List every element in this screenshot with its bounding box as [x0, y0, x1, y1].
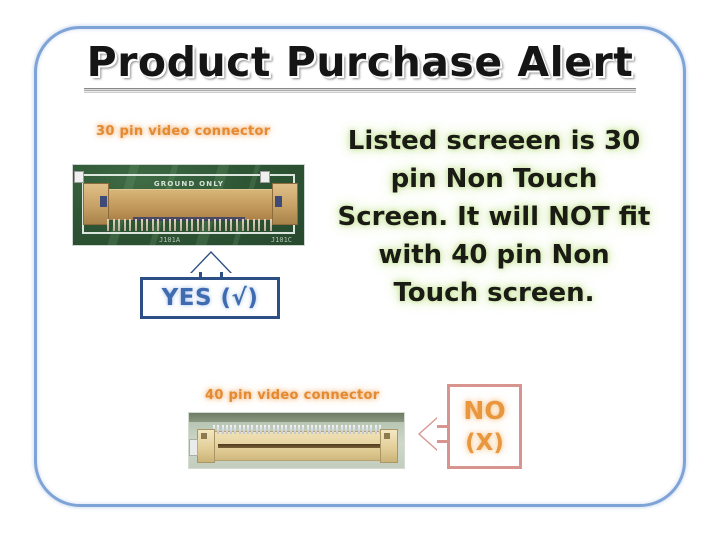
connector-keying-right: [275, 196, 282, 207]
connector-keying-left: [100, 196, 107, 207]
silkscreen-ref-left: J101A: [159, 236, 180, 244]
connector-end-left-40: [197, 429, 215, 463]
page-title-container: Product Purchase Alert: [34, 38, 686, 88]
silkscreen-ground-only-label: GROUND ONLY: [89, 180, 289, 188]
image-30-pin-connector: GROUND ONLY J101A J101C: [72, 164, 305, 246]
image-40-pin-connector: [188, 412, 405, 469]
connector-tab-right: [260, 171, 270, 183]
connector-pin-row-30: [107, 219, 272, 231]
connector-end-right-40: [380, 429, 398, 463]
page-title: Product Purchase Alert: [81, 38, 640, 88]
title-underline: [84, 88, 636, 93]
connector-body-30-pin: GROUND ONLY: [89, 189, 289, 220]
connector-tab-left: [74, 171, 84, 183]
yes-callout-box: YES (√): [140, 277, 280, 319]
connector-side-tab-40: [189, 439, 198, 456]
connector-slot-40: [218, 444, 381, 448]
alert-message: Listed screeen is 30 pin Non Touch Scree…: [336, 122, 652, 312]
connector-pin-row-40: [213, 425, 381, 434]
caption-40-pin-connector: 40 pin video connector: [205, 388, 380, 403]
caption-30-pin-connector: 30 pin video connector: [96, 124, 271, 139]
connector-body-40-pin: [199, 431, 396, 461]
no-callout-sublabel: (X): [465, 431, 504, 455]
no-callout-box: NO (X): [447, 384, 522, 469]
yes-callout-label: YES (√): [162, 285, 259, 311]
silkscreen-ref-right: J101C: [271, 236, 292, 244]
pcb-edge-strip: [189, 413, 404, 422]
no-callout-label: NO: [463, 398, 505, 424]
